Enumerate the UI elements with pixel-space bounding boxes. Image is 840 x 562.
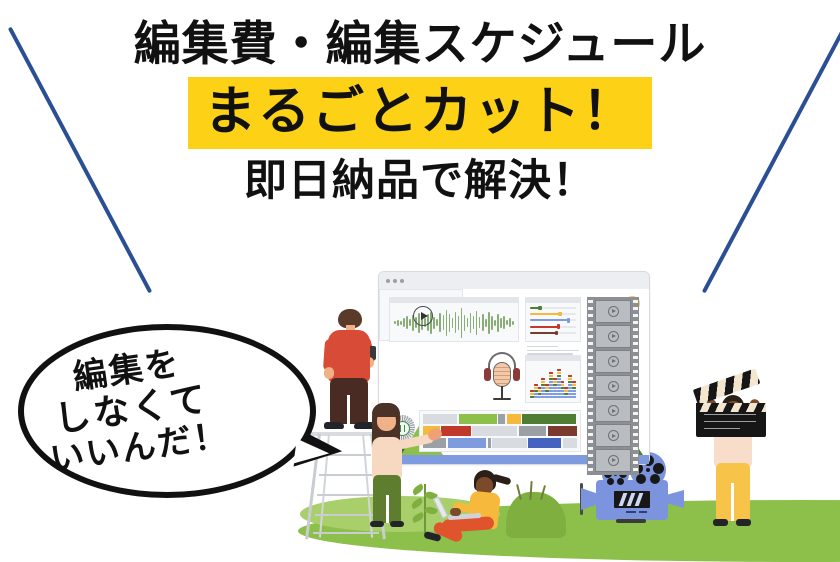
waveform-bar <box>476 311 478 335</box>
equalizer-panel[interactable] <box>525 355 581 403</box>
timeline-clip[interactable] <box>498 414 505 424</box>
waveform-bar <box>506 320 508 325</box>
slider-handle[interactable] <box>558 312 561 316</box>
filmstrip-frame[interactable] <box>595 325 631 348</box>
microphone-with-headphones-icon <box>480 351 524 403</box>
waveform-bar <box>400 321 402 325</box>
timeline-clip[interactable] <box>488 438 491 448</box>
slider-handle[interactable] <box>567 318 570 322</box>
timeline-clip[interactable] <box>548 426 577 436</box>
waveform-bar <box>503 316 505 329</box>
waveform-bar <box>485 319 487 327</box>
play-icon[interactable] <box>608 306 619 317</box>
window-dot-close[interactable] <box>386 279 390 283</box>
waveform-bar <box>436 319 438 326</box>
slider-blue[interactable] <box>530 319 576 321</box>
microphone-head <box>493 362 511 387</box>
waveform-bar <box>464 315 466 331</box>
waveform-bar <box>403 318 405 327</box>
waveform-bar <box>433 317 435 329</box>
editing-timeline[interactable] <box>419 410 581 452</box>
woman-leg-gap <box>386 495 389 523</box>
waveform-bar <box>497 314 499 332</box>
headphone-earcup-right <box>513 368 520 381</box>
decorative-bush <box>506 492 566 538</box>
slider-handle[interactable] <box>538 306 541 310</box>
timeline-track[interactable] <box>423 414 577 424</box>
waveform-bar <box>491 316 493 330</box>
equalizer-bar <box>572 381 576 398</box>
equalizer-segment <box>549 372 553 374</box>
timeline-clip[interactable] <box>507 414 521 424</box>
filmstrip-frames[interactable] <box>595 300 631 472</box>
microphone-stem <box>501 386 503 398</box>
timeline-clip[interactable] <box>563 438 577 448</box>
clapperboard-stick <box>693 368 761 405</box>
camera-screen-slash <box>635 493 644 506</box>
timeline-track[interactable] <box>423 438 577 448</box>
panel-header <box>390 298 518 303</box>
clapperboard-icon <box>696 389 766 437</box>
slider-handle[interactable] <box>557 324 560 328</box>
timeline-clip[interactable] <box>448 438 487 448</box>
play-icon[interactable] <box>608 455 619 466</box>
timeline-clip[interactable] <box>472 426 517 436</box>
man-leg-gap <box>347 395 350 424</box>
window-dot-minimize[interactable] <box>393 279 397 283</box>
waveform-bar <box>409 319 411 326</box>
timeline-clip[interactable] <box>423 414 457 424</box>
reel-hole <box>617 478 624 485</box>
timeline-clip[interactable] <box>519 426 546 436</box>
mic-grille-line <box>494 371 510 372</box>
play-icon[interactable] <box>608 381 619 392</box>
equalizer-segment <box>568 378 572 380</box>
headline-highlight-text: まるごとカット！ <box>188 77 652 150</box>
bush-blade <box>516 484 522 500</box>
timeline-clip[interactable] <box>459 414 497 424</box>
equalizer-segment <box>557 375 561 377</box>
play-icon[interactable] <box>608 430 619 441</box>
headline-line-3: 即日納品で解決！ <box>0 157 840 206</box>
camera-detail-line <box>639 511 647 513</box>
waveform-bar <box>397 320 399 326</box>
slider-fill <box>530 326 559 328</box>
waveform-bar <box>482 314 484 331</box>
equalizer-segment <box>572 396 576 398</box>
banner-canvas: 編集費・編集スケジュール まるごとカット！ 即日納品で解決！ <box>0 0 840 560</box>
waveform-bar <box>479 317 481 328</box>
reel-hole <box>653 463 664 474</box>
filmstrip-frame[interactable] <box>595 399 631 422</box>
play-icon[interactable] <box>413 306 433 326</box>
slider-fill <box>530 319 569 321</box>
clapper-person-leg-gap <box>731 483 734 521</box>
headline-highlight-wrapper: まるごとカット！ <box>0 77 840 150</box>
slider-green[interactable] <box>530 307 576 309</box>
play-icon[interactable] <box>608 405 619 416</box>
camera-screen <box>614 491 650 508</box>
equalizer-segment <box>561 384 565 386</box>
reel-hub <box>646 468 650 472</box>
equalizer-segment <box>557 372 561 374</box>
waveform-bar <box>452 318 454 328</box>
placeholder-line <box>527 346 558 347</box>
person-holding-clapperboard <box>688 365 776 535</box>
filmstrip-frame[interactable] <box>595 350 631 373</box>
audio-waveform <box>394 308 514 337</box>
slider-panel[interactable] <box>525 297 581 342</box>
waveform-bar <box>458 316 460 330</box>
waveform-bar <box>500 318 502 328</box>
slider-handle[interactable] <box>555 331 558 335</box>
mic-grille-line <box>494 367 510 368</box>
equalizer-segment <box>541 378 545 380</box>
waveform-bar <box>494 320 496 326</box>
waveform-bar <box>443 315 445 330</box>
waveform-bar <box>394 321 396 324</box>
slider-red[interactable] <box>530 326 576 328</box>
camera-base <box>616 519 646 523</box>
equalizer-segment <box>572 393 576 395</box>
waveform-bar <box>439 313 441 332</box>
waveform-bar <box>470 313 472 333</box>
laptop-screen <box>433 496 448 518</box>
clapperboard-line <box>704 421 756 422</box>
clapperboard-top-stripe <box>696 403 766 412</box>
reel-hole <box>607 478 614 485</box>
clapperboard-line <box>704 414 756 415</box>
microphone-base <box>493 398 511 400</box>
waveform-bar <box>488 312 490 334</box>
play-icon[interactable] <box>608 331 619 342</box>
slider-fill <box>530 313 560 315</box>
filmstrip-frame[interactable] <box>595 300 631 323</box>
camera-detail-line <box>626 511 636 513</box>
bush-blade <box>540 485 546 500</box>
clapperboard-line <box>704 428 740 429</box>
timeline-clip[interactable] <box>492 438 527 448</box>
timeline-track[interactable] <box>423 426 577 436</box>
slider-yellow[interactable] <box>530 313 576 315</box>
filmstrip-perforations-right <box>633 300 638 472</box>
equalizer-segment <box>572 390 576 392</box>
waveform-bar <box>449 314 451 332</box>
sitter-hand <box>450 508 461 516</box>
equalizer-segment <box>572 384 576 386</box>
filmstrip-frame[interactable] <box>595 449 631 472</box>
woman-shoe-left <box>370 521 384 527</box>
waveform-bar <box>509 318 511 327</box>
waveform-bar <box>467 318 469 327</box>
panel-header <box>526 298 580 303</box>
equalizer-segment <box>561 381 565 383</box>
filmstrip-perforations-left <box>588 300 593 472</box>
reel-hole <box>650 474 660 484</box>
clapper-person-shoe-left <box>713 519 728 526</box>
waveform-bar <box>455 312 457 333</box>
window-dot-maximize[interactable] <box>400 279 404 283</box>
reel-hole <box>636 474 646 484</box>
bush-blade <box>529 481 532 500</box>
woman-shoe-right <box>390 521 404 527</box>
filmstrip-frame[interactable] <box>595 375 631 398</box>
waveform-bar <box>446 310 448 336</box>
equalizer-segment <box>557 378 561 380</box>
waveform-bar <box>406 316 408 329</box>
timeline-clip[interactable] <box>528 438 561 448</box>
slider-fill <box>530 332 557 334</box>
speech-bubble: 編集を しなくて いいんだ！ <box>18 324 316 498</box>
waveform-panel[interactable] <box>389 297 519 342</box>
filmstrip-frame[interactable] <box>595 424 631 447</box>
filmstrip[interactable] <box>587 297 639 475</box>
equalizer-segment <box>572 387 576 389</box>
slider-list[interactable] <box>530 307 576 334</box>
camera-lens-right <box>666 490 684 508</box>
woman-hair-front <box>372 403 400 417</box>
headline-block: 編集費・編集スケジュール まるごとカット！ 即日納品で解決！ <box>0 18 840 207</box>
man-hand-left <box>324 367 334 379</box>
equalizer-segment <box>572 381 576 383</box>
person-sitting-with-laptop <box>420 470 555 542</box>
timeline-clip[interactable] <box>522 414 576 424</box>
equalizer-segment <box>549 375 553 377</box>
mic-grille-line <box>494 379 510 380</box>
timeline-clip[interactable] <box>441 426 470 436</box>
window-titlebar <box>379 272 649 289</box>
man-shoe-left <box>324 422 344 429</box>
headphone-earcup-left <box>484 368 491 381</box>
play-icon[interactable] <box>608 356 619 367</box>
equalizer-segment <box>541 381 545 383</box>
audio-equalizer <box>530 362 576 398</box>
mic-grille-line <box>494 375 510 376</box>
panel-header <box>526 356 580 361</box>
waveform-bar <box>473 316 475 329</box>
clapper-person-shoe-right <box>736 519 751 526</box>
placeholder-line <box>527 350 579 351</box>
waveform-bar <box>512 321 514 325</box>
equalizer-segment <box>568 375 572 377</box>
equalizer-segment <box>534 384 538 386</box>
equalizer-segment <box>557 369 561 371</box>
mic-grille-line <box>494 383 510 384</box>
slider-brown[interactable] <box>530 332 576 334</box>
waveform-bar <box>461 308 463 338</box>
headline-line-1: 編集費・編集スケジュール <box>0 18 840 71</box>
